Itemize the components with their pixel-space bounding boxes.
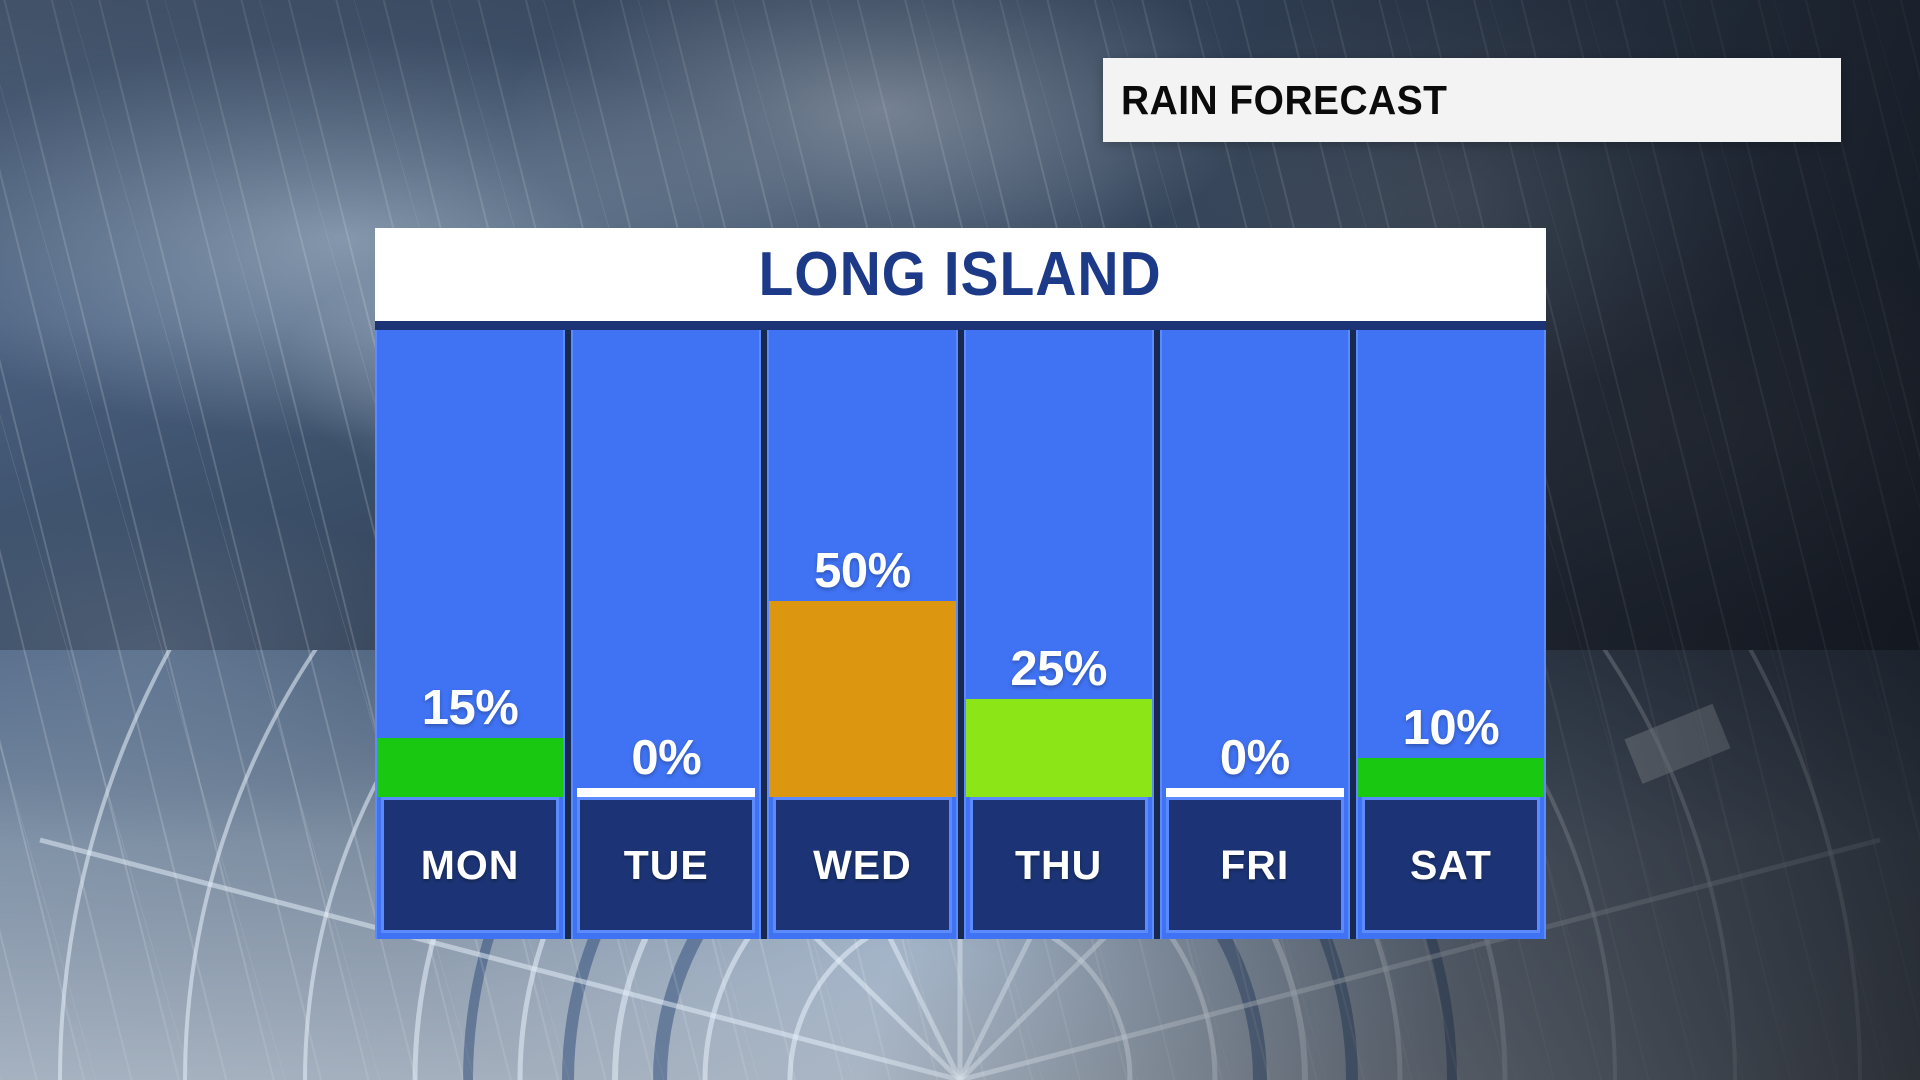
day-label-tue: TUE [624, 842, 709, 889]
forecast-panel: LONG ISLAND 15% MON 0% TUE [375, 228, 1546, 948]
day-label-mon: MON [421, 842, 520, 889]
city-title: LONG ISLAND [759, 239, 1162, 310]
banner-title: RAIN FORECAST [1121, 77, 1447, 124]
rain-bar-fri [1166, 788, 1344, 797]
forecast-columns: 15% MON 0% TUE 50% WED [375, 330, 1546, 939]
forecast-column-wed[interactable]: 50% WED [767, 330, 957, 939]
day-label-thu: THU [1015, 842, 1102, 889]
forecast-column-thu[interactable]: 25% THU [964, 330, 1154, 939]
rain-bar-wed [769, 601, 955, 797]
day-footer-sat: SAT [1362, 797, 1540, 933]
percent-label-sat: 10% [1358, 700, 1544, 756]
day-label-sat: SAT [1410, 842, 1492, 889]
panel-header: LONG ISLAND [375, 228, 1546, 330]
day-footer-fri: FRI [1166, 797, 1344, 933]
rain-bar-mon [377, 738, 563, 797]
rain-bar-tue [577, 788, 755, 797]
rain-bar-thu [966, 699, 1152, 797]
rain-bar-sat [1358, 758, 1544, 797]
percent-label-wed: 50% [769, 543, 955, 599]
rain-forecast-banner: RAIN FORECAST [1103, 58, 1841, 142]
day-footer-mon: MON [381, 797, 559, 933]
forecast-column-sat[interactable]: 10% SAT [1356, 330, 1546, 939]
forecast-column-fri[interactable]: 0% FRI [1160, 330, 1350, 939]
day-label-fri: FRI [1220, 842, 1289, 889]
percent-label-mon: 15% [377, 680, 563, 736]
percent-label-tue: 0% [573, 730, 759, 786]
day-footer-tue: TUE [577, 797, 755, 933]
forecast-column-mon[interactable]: 15% MON [375, 330, 565, 939]
day-label-wed: WED [813, 842, 912, 889]
forecast-column-tue[interactable]: 0% TUE [571, 330, 761, 939]
percent-label-fri: 0% [1162, 730, 1348, 786]
day-footer-wed: WED [773, 797, 951, 933]
percent-label-thu: 25% [966, 641, 1152, 697]
day-footer-thu: THU [970, 797, 1148, 933]
